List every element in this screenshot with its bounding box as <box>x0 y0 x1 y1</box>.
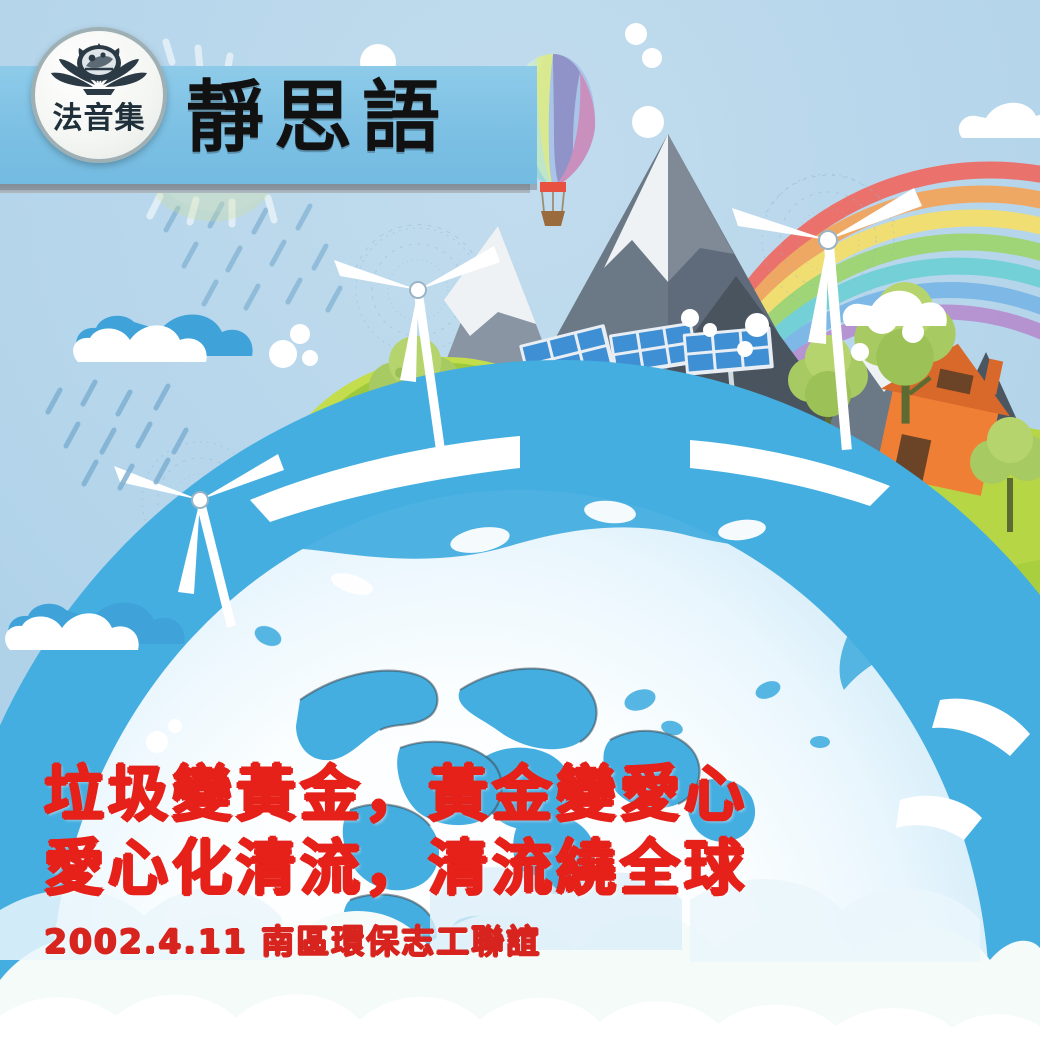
logo-badge: 法音集 <box>31 27 167 163</box>
quote-line-1: 垃圾變黃金，黃金變愛心 <box>44 758 984 832</box>
balloon-band <box>540 182 566 192</box>
static-image-poster: 靜思語 法音 <box>0 0 1040 1040</box>
balloon-basket <box>541 211 565 226</box>
quote-block: 垃圾變黃金，黃金變愛心 愛心化清流，清流繞全球 2002.4.11 南區環保志工… <box>44 758 984 962</box>
quote-credit: 2002.4.11 南區環保志工聯誼 <box>44 922 984 962</box>
logo-text: 法音集 <box>35 93 163 137</box>
page-title: 靜思語 <box>186 72 450 164</box>
header-bar-shadow <box>0 184 530 193</box>
quote-line-2: 愛心化清流，清流繞全球 <box>44 832 984 906</box>
